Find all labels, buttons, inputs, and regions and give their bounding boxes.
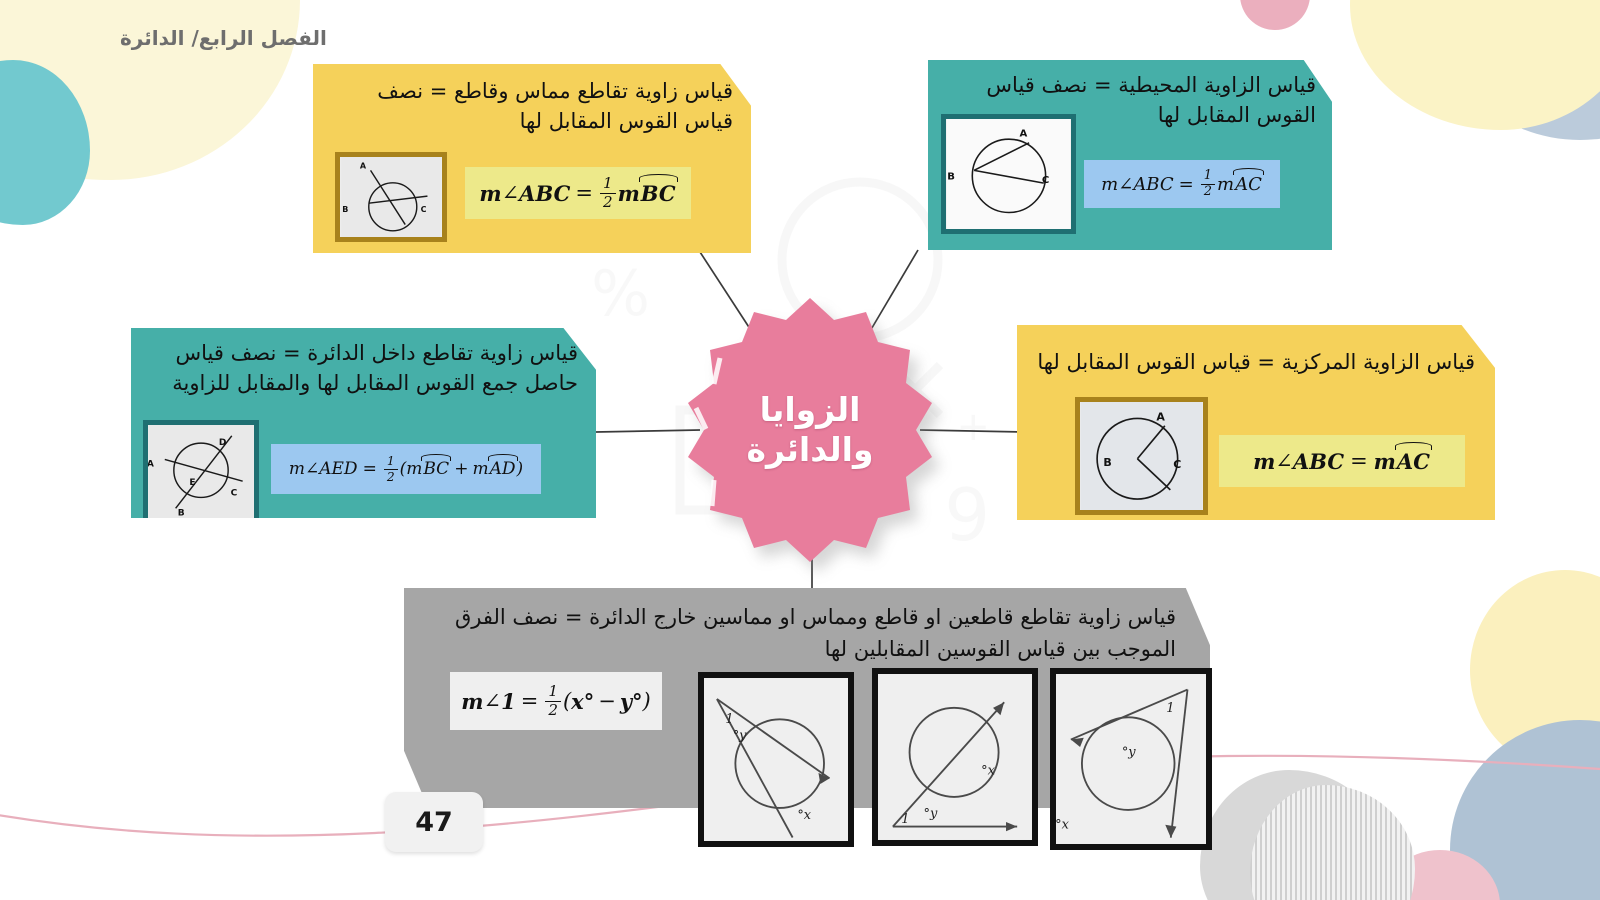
svg-text:x°: x° [797, 808, 811, 823]
formula-m2: m [1374, 449, 1396, 474]
formula-open-paren: ( [563, 689, 571, 713]
formula-denominator: 2 [600, 194, 616, 210]
formula-abc: ABC [519, 181, 570, 206]
callout-external-angle-text: قياس زاوية تقاطع قاطعين او قاطع ومماس او… [436, 602, 1176, 665]
formula-eq: = [1350, 449, 1368, 473]
formula-numerator: 1 [384, 455, 398, 469]
svg-text:A: A [1156, 410, 1165, 423]
chapter-header: الفصل الرابع/ الدائرة [120, 26, 327, 50]
svg-text:x°: x° [981, 764, 995, 779]
svg-text:y°: y° [733, 729, 747, 744]
svg-text:C: C [421, 205, 427, 214]
formula-plus: + [454, 459, 468, 479]
formula-half: 1 2 [600, 176, 616, 209]
center-node[interactable]: الزوايا والدائرة [676, 296, 944, 564]
formula-numerator: 1 [1201, 170, 1215, 185]
formula-half: 1 2 [384, 455, 398, 482]
formula-eq: = [1179, 174, 1194, 195]
formula-denominator: 2 [384, 470, 398, 483]
svg-text:B: B [178, 509, 185, 519]
formula-arc-ac: AC [1234, 174, 1263, 195]
figure-tangent-secant-circle: A B C [335, 152, 447, 242]
svg-text:C: C [1042, 175, 1049, 186]
svg-text:A: A [1019, 128, 1027, 139]
svg-text:B: B [342, 205, 348, 214]
figure-inscribed-angle: A B C [941, 114, 1076, 234]
callout-inscribed-angle-body: قياس الزاوية المحيطية = نصف قياس القوس ا… [928, 60, 1332, 250]
formula-central-angle: m ∠ ABC = m AC [1219, 435, 1465, 487]
svg-text:C: C [231, 489, 238, 499]
inscribed-angle-icon: A B C [946, 119, 1071, 229]
svg-text:1: 1 [1166, 701, 1174, 716]
formula-m2: m [1217, 174, 1234, 195]
formula-abc: ABC [1133, 174, 1173, 195]
figure-intersecting-chords: A B C D E [143, 420, 259, 526]
formula-aed: AED [319, 459, 357, 479]
formula-x-deg: x° [571, 689, 594, 714]
formula-m: m [1253, 449, 1275, 474]
svg-text:C: C [1173, 458, 1181, 471]
center-title-line1: الزوايا [760, 390, 861, 430]
formula-close-paren: ) [643, 689, 651, 713]
formula-intersecting-chords: m ∠ AED = 1 2 ( m BC + m AD ) [271, 444, 541, 494]
formula-arc-ac: AC [1396, 449, 1431, 474]
svg-text:A: A [148, 460, 154, 470]
formula-angle-sign: ∠ [502, 181, 520, 205]
formula-half: 1 2 [1201, 170, 1215, 199]
svg-text:1: 1 [725, 712, 733, 727]
formula-m: m [289, 459, 305, 479]
figure-tangent-and-secant: 1 y° x° [872, 668, 1038, 846]
callout-tangent-secant[interactable]: قياس زاوية تقاطع مماس وقاطع = نصف قياس ا… [313, 64, 751, 253]
callout-inscribed-angle[interactable]: قياس الزاوية المحيطية = نصف قياس القوس ا… [928, 60, 1332, 250]
formula-arc-ad: AD [489, 459, 517, 479]
callout-central-angle-text: قياس الزاوية المركزية = قياس القوس المقا… [1035, 347, 1475, 377]
svg-text:E: E [189, 478, 195, 488]
formula-minus: − [598, 689, 616, 713]
slide-canvas: % 9 ★ + الفصل الرابع/ الدائرة قياس زاوية… [0, 0, 1600, 900]
formula-close-paren: ) [517, 459, 524, 479]
formula-arc-bc: BC [640, 181, 677, 206]
callout-tangent-secant-body: قياس زاوية تقاطع مماس وقاطع = نصف قياس ا… [313, 64, 751, 253]
svg-text:y°: y° [1122, 745, 1136, 760]
formula-angle-sign: ∠ [484, 689, 502, 713]
figure-central-angle: A B C [1075, 397, 1208, 515]
formula-angle-one: 1 [501, 689, 516, 714]
formula-numerator: 1 [600, 176, 616, 193]
callout-intersecting-chords[interactable]: قياس زاوية تقاطع داخل الدائرة = نصف قياس… [131, 328, 596, 518]
svg-text:y°: y° [924, 806, 938, 821]
formula-m3: m [472, 459, 488, 479]
formula-m: m [1101, 174, 1118, 195]
formula-open-paren: ( [400, 459, 407, 479]
formula-tangent-secant: m ∠ ABC = 1 2 m BC [465, 167, 691, 219]
svg-text:D: D [219, 438, 227, 448]
page-number: 47 [415, 807, 453, 838]
formula-angle-sign: ∠ [1118, 174, 1133, 195]
svg-text:A: A [360, 162, 367, 171]
formula-eq: = [521, 689, 539, 713]
formula-inscribed-angle: m ∠ ABC = 1 2 m AC [1084, 160, 1280, 208]
formula-eq: = [363, 459, 377, 479]
page-number-badge: 47 [385, 792, 483, 852]
formula-m: m [479, 181, 501, 206]
tangent-secant-external-icon: 1 y° x° [878, 674, 1032, 840]
formula-angle-sign: ∠ [305, 459, 319, 479]
formula-y-deg: y° [620, 689, 643, 714]
formula-half: 1 2 [545, 684, 561, 717]
figure-two-secants: 1 y° x° [698, 672, 854, 847]
formula-arc-bc: BC [422, 459, 450, 479]
two-tangents-icon: 1 y° x° [1056, 674, 1206, 844]
two-secants-icon: 1 y° x° [704, 678, 848, 841]
formula-m: m [461, 689, 483, 714]
svg-text:x°: x° [1056, 817, 1070, 832]
callout-central-angle[interactable]: قياس الزاوية المركزية = قياس القوس المقا… [1017, 325, 1495, 520]
formula-denominator: 2 [545, 702, 561, 718]
formula-denominator: 2 [1201, 185, 1215, 199]
figure-two-tangents: 1 y° x° [1050, 668, 1212, 850]
svg-text:B: B [1103, 456, 1111, 469]
formula-angle-sign: ∠ [1275, 449, 1293, 473]
formula-m2: m [406, 459, 422, 479]
central-angle-icon: A B C [1080, 402, 1203, 510]
center-title-line2: والدائرة [747, 430, 874, 470]
formula-m2: m [618, 181, 640, 206]
intersecting-chords-icon: A B C D E [148, 425, 254, 521]
tangent-secant-circle-icon: A B C [340, 157, 442, 237]
formula-external-angle: m ∠ 1 = 1 2 ( x° − y° ) [450, 672, 662, 730]
callout-central-angle-body: قياس الزاوية المركزية = قياس القوس المقا… [1017, 325, 1495, 520]
callout-intersecting-chords-body: قياس زاوية تقاطع داخل الدائرة = نصف قياس… [131, 328, 596, 518]
svg-text:B: B [947, 172, 955, 183]
callout-intersecting-chords-text: قياس زاوية تقاطع داخل الدائرة = نصف قياس… [148, 338, 578, 399]
formula-eq: = [575, 181, 593, 205]
formula-abc: ABC [1293, 449, 1344, 474]
callout-tangent-secant-text: قياس زاوية تقاطع مماس وقاطع = نصف قياس ا… [333, 76, 733, 137]
formula-numerator: 1 [545, 684, 561, 701]
center-title: الزوايا والدائرة [676, 296, 944, 564]
svg-text:1: 1 [901, 812, 909, 827]
